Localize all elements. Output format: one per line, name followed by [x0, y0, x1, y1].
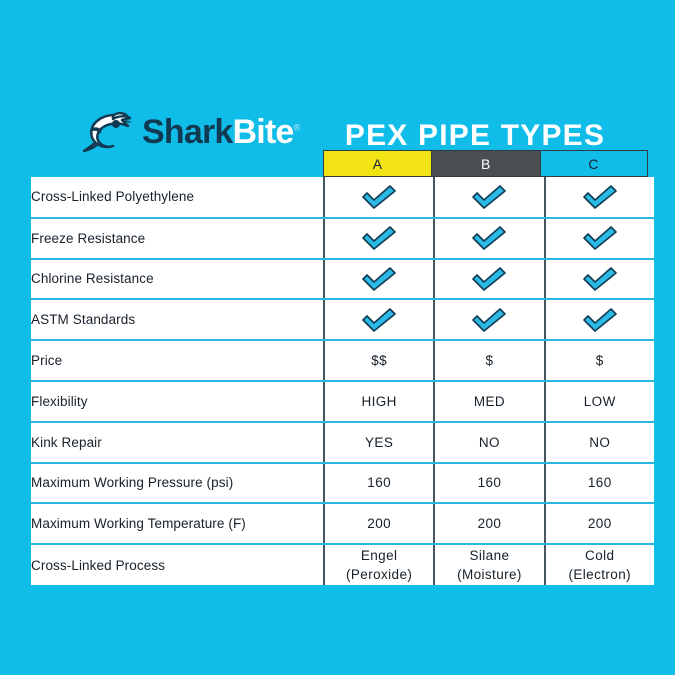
- cell-b-line2: (Moisture): [435, 565, 543, 584]
- cell-c: Cold (Electron): [545, 544, 654, 585]
- table-row: ASTM Standards: [31, 299, 654, 340]
- cell-c-line2: (Electron): [546, 565, 654, 584]
- column-header-b: B: [431, 150, 539, 177]
- cell-c: [545, 259, 654, 300]
- cell-c: 160: [545, 463, 654, 504]
- check-mark-icon: [471, 184, 507, 210]
- cell-b: NO: [434, 422, 544, 463]
- cell-c-line1: Cold: [546, 546, 654, 565]
- shark-icon: [82, 111, 138, 153]
- cell-b: [434, 177, 544, 218]
- cell-b-line1: Silane: [435, 546, 543, 565]
- table-row: Kink Repair YES NO NO: [31, 422, 654, 463]
- row-label: Maximum Working Temperature (F): [31, 503, 324, 544]
- sharkbite-wordmark: SharkBite®: [142, 115, 299, 149]
- cell-a-line2: (Peroxide): [325, 565, 433, 584]
- cell-a: [324, 218, 434, 259]
- row-label: Price: [31, 340, 324, 381]
- check-mark-icon: [582, 225, 618, 251]
- cell-b: Silane (Moisture): [434, 544, 544, 585]
- logo-word-shark: Shark: [142, 113, 233, 151]
- cell-a: 200: [324, 503, 434, 544]
- table-row: Flexibility HIGH MED LOW: [31, 381, 654, 422]
- check-mark-icon: [361, 225, 397, 251]
- row-label: Flexibility: [31, 381, 324, 422]
- infographic-root: SharkBite® PEX PIPE TYPES A B C Cross-Li…: [0, 0, 675, 675]
- row-label: Freeze Resistance: [31, 218, 324, 259]
- cell-b: [434, 218, 544, 259]
- cell-a: [324, 259, 434, 300]
- cell-c: [545, 218, 654, 259]
- table-row: Price $$ $ $: [31, 340, 654, 381]
- cell-a: [324, 177, 434, 218]
- check-mark-icon: [361, 307, 397, 333]
- cell-c: NO: [545, 422, 654, 463]
- table-row: Cross-Linked Polyethylene: [31, 177, 654, 218]
- cell-b: 160: [434, 463, 544, 504]
- check-mark-icon: [471, 307, 507, 333]
- logo-trademark: ®: [294, 123, 300, 133]
- table-row: Freeze Resistance: [31, 218, 654, 259]
- cell-b: [434, 299, 544, 340]
- cell-a: YES: [324, 422, 434, 463]
- table-body: Cross-Linked Polyethylene: [31, 177, 654, 585]
- check-mark-icon: [582, 307, 618, 333]
- cell-a: [324, 299, 434, 340]
- cell-a: $$: [324, 340, 434, 381]
- row-label: Kink Repair: [31, 422, 324, 463]
- cell-b: $: [434, 340, 544, 381]
- header: SharkBite® PEX PIPE TYPES: [0, 50, 675, 120]
- column-header-c: C: [540, 150, 648, 177]
- check-mark-icon: [361, 184, 397, 210]
- check-mark-icon: [361, 266, 397, 292]
- table-row: Chlorine Resistance: [31, 259, 654, 300]
- cell-c: [545, 177, 654, 218]
- row-label: ASTM Standards: [31, 299, 324, 340]
- cell-b: MED: [434, 381, 544, 422]
- cell-a: Engel (Peroxide): [324, 544, 434, 585]
- cell-a-line1: Engel: [325, 546, 433, 565]
- cell-b: [434, 259, 544, 300]
- column-header-a: A: [323, 150, 431, 177]
- row-label: Cross-Linked Process: [31, 544, 324, 585]
- table-rows: Cross-Linked Polyethylene: [31, 177, 654, 585]
- check-mark-icon: [471, 225, 507, 251]
- table-row: Cross-Linked Process Engel (Peroxide) Si…: [31, 544, 654, 585]
- check-mark-icon: [471, 266, 507, 292]
- row-label: Cross-Linked Polyethylene: [31, 177, 324, 218]
- logo-word-bite: Bite: [233, 113, 294, 151]
- cell-c: [545, 299, 654, 340]
- row-label: Maximum Working Pressure (psi): [31, 463, 324, 504]
- table-body-wrapper: Cross-Linked Polyethylene: [31, 177, 648, 585]
- row-label: Chlorine Resistance: [31, 259, 324, 300]
- cell-c: $: [545, 340, 654, 381]
- cell-b: 200: [434, 503, 544, 544]
- check-mark-icon: [582, 266, 618, 292]
- check-mark-icon: [582, 184, 618, 210]
- table-row: Maximum Working Pressure (psi) 160 160 1…: [31, 463, 654, 504]
- cell-c: LOW: [545, 381, 654, 422]
- sharkbite-logo: SharkBite®: [82, 105, 299, 159]
- cell-a: 160: [324, 463, 434, 504]
- cell-a: HIGH: [324, 381, 434, 422]
- table-row: Maximum Working Temperature (F) 200 200 …: [31, 503, 654, 544]
- table-column-headers: A B C: [323, 150, 648, 177]
- cell-c: 200: [545, 503, 654, 544]
